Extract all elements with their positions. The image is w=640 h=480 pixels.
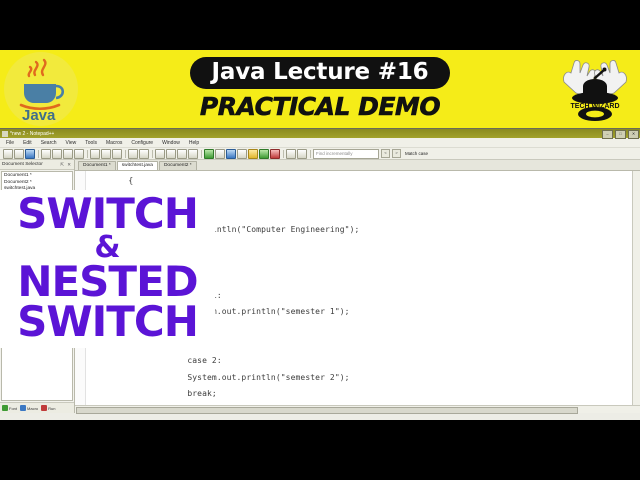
- tab-bar[interactable]: Document1 * switchtest.java Document2 *: [75, 160, 640, 171]
- find-next-button[interactable]: >: [392, 149, 401, 158]
- zoom-out-icon[interactable]: [237, 149, 247, 159]
- menu-item-edit[interactable]: Edit: [23, 140, 32, 146]
- overlay-line-4: SWITCH: [0, 302, 215, 342]
- java-cup-icon: Java: [12, 56, 70, 122]
- panel-close-icon[interactable]: ⇱ ✕: [60, 162, 72, 168]
- hscroll-thumb[interactable]: [76, 407, 578, 414]
- footer-label: Macro: [27, 406, 38, 411]
- save-icon[interactable]: [25, 149, 35, 159]
- find-incrementally-input[interactable]: Find incrementally: [313, 149, 379, 159]
- toolbar-separator: [125, 150, 126, 158]
- screenshot-root: Java Java Lecture #16 PRACTICAL DEMO TEC…: [0, 0, 640, 480]
- toolbar-separator: [310, 150, 311, 158]
- document-selector-title: Document Selector: [2, 162, 43, 167]
- topic-overlay: SWITCH & NESTED SWITCH: [0, 190, 215, 348]
- record-macro-icon[interactable]: [259, 149, 269, 159]
- letterbox-bottom: [0, 420, 640, 480]
- code-line[interactable]: case 2:: [89, 353, 636, 369]
- tech-wizard-logo-text: TECH WIZARD: [571, 103, 620, 110]
- app-icon: [2, 131, 8, 137]
- indent-guide-icon[interactable]: [215, 149, 225, 159]
- minimize-button[interactable]: –: [602, 130, 613, 139]
- magic-hat-hands-icon: TECH WIZARD: [556, 52, 634, 126]
- open-file-icon[interactable]: [14, 149, 24, 159]
- close-all-icon[interactable]: [63, 149, 73, 159]
- java-logo: Java: [4, 52, 78, 126]
- toolbar-separator: [38, 150, 39, 158]
- code-line[interactable]: break;: [89, 386, 636, 402]
- menu-item-help[interactable]: Help: [189, 140, 199, 146]
- horizontal-scrollbar[interactable]: [75, 405, 640, 413]
- banner-center: Java Lecture #16 PRACTICAL DEMO: [110, 50, 530, 128]
- play-macro-icon[interactable]: [286, 149, 296, 159]
- lecture-title-pill: Java Lecture #16: [190, 57, 451, 89]
- window-controls[interactable]: – □ ✕: [602, 130, 639, 139]
- cut-icon[interactable]: [90, 149, 100, 159]
- code-line[interactable]: {: [89, 173, 636, 189]
- overlay-line-1: SWITCH: [0, 194, 215, 234]
- window-title: *new 2 - Notepad++: [10, 131, 54, 137]
- redo-icon[interactable]: [139, 149, 149, 159]
- toolbar[interactable]: Find incrementally < > Match case: [0, 148, 640, 160]
- stop-macro-icon[interactable]: [270, 149, 280, 159]
- banner-subtitle: PRACTICAL DEMO: [200, 92, 440, 121]
- close-button[interactable]: ✕: [628, 130, 639, 139]
- panel-footer-toolbar[interactable]: Font Macro Run: [0, 402, 74, 413]
- font-icon: [2, 405, 8, 411]
- menu-item-window[interactable]: Window: [162, 140, 180, 146]
- footer-button-macro[interactable]: Macro: [20, 405, 38, 411]
- document-selector-header: Document Selector ⇱ ✕: [0, 160, 74, 170]
- undo-icon[interactable]: [128, 149, 138, 159]
- menu-item-search[interactable]: Search: [41, 140, 57, 146]
- code-line[interactable]: System.out.println("semester 2");: [89, 370, 636, 386]
- copy-icon[interactable]: [101, 149, 111, 159]
- tab-document2[interactable]: Document2 *: [159, 161, 197, 170]
- footer-button-font[interactable]: Font: [2, 405, 17, 411]
- title-banner: Java Java Lecture #16 PRACTICAL DEMO TEC…: [0, 50, 640, 128]
- find-icon[interactable]: [155, 149, 165, 159]
- zoom-in-icon[interactable]: [226, 149, 236, 159]
- vertical-scrollbar[interactable]: [632, 171, 640, 405]
- footer-button-run[interactable]: Run: [41, 405, 55, 411]
- java-logo-text: Java: [22, 107, 56, 122]
- toolbar-separator: [283, 150, 284, 158]
- sync-scroll-icon[interactable]: [248, 149, 258, 159]
- menu-item-macros[interactable]: Macros: [106, 140, 122, 146]
- save-all-icon[interactable]: [41, 149, 51, 159]
- footer-label: Run: [48, 406, 55, 411]
- toolbar-separator: [201, 150, 202, 158]
- match-case-checkbox[interactable]: Match case: [405, 151, 428, 156]
- menu-item-tools[interactable]: Tools: [85, 140, 97, 146]
- tech-wizard-logo: TECH WIZARD: [556, 52, 634, 126]
- menu-item-file[interactable]: File: [6, 140, 14, 146]
- find-prev-button[interactable]: <: [381, 149, 390, 158]
- print-icon[interactable]: [74, 149, 84, 159]
- macro-icon: [20, 405, 26, 411]
- footer-label: Font: [9, 406, 17, 411]
- menu-bar[interactable]: File Edit Search View Tools Macros Confi…: [0, 138, 640, 148]
- toolbar-separator: [87, 150, 88, 158]
- close-file-icon[interactable]: [52, 149, 62, 159]
- run-icon[interactable]: [297, 149, 307, 159]
- goto-line-icon[interactable]: [177, 149, 187, 159]
- tab-document1[interactable]: Document1 *: [78, 161, 116, 170]
- window-titlebar: *new 2 - Notepad++ – □ ✕: [0, 129, 640, 138]
- show-all-chars-icon[interactable]: [204, 149, 214, 159]
- letterbox-top: [0, 0, 640, 50]
- menu-item-configure[interactable]: Configure: [131, 140, 153, 146]
- run-icon: [41, 405, 47, 411]
- paste-icon[interactable]: [112, 149, 122, 159]
- menu-item-view[interactable]: View: [66, 140, 77, 146]
- tab-switchtest-java[interactable]: switchtest.java: [117, 161, 158, 170]
- replace-icon[interactable]: [166, 149, 176, 159]
- word-wrap-icon[interactable]: [188, 149, 198, 159]
- new-file-icon[interactable]: [3, 149, 13, 159]
- toolbar-separator: [152, 150, 153, 158]
- maximize-button[interactable]: □: [615, 130, 626, 139]
